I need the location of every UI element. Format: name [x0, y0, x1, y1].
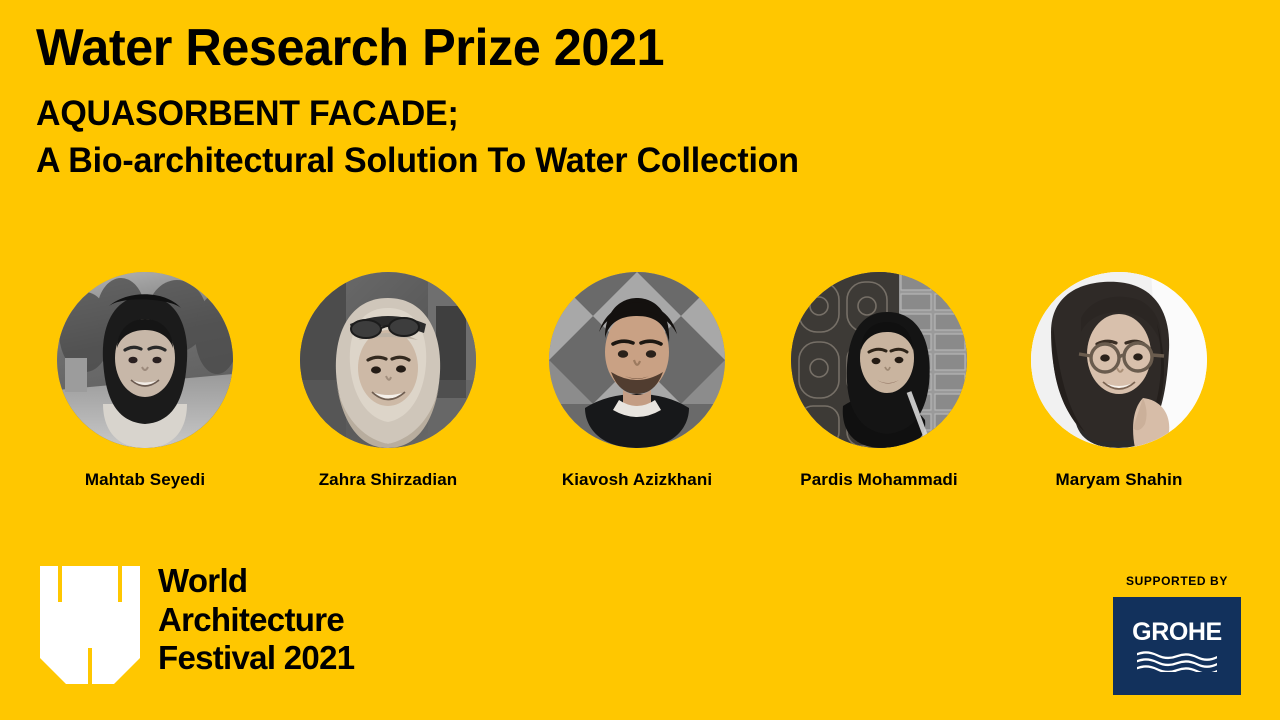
- world-architecture-festival-logo: World Architecture Festival 2021: [40, 566, 354, 684]
- supporter-block: SUPPORTED BY GROHE: [1113, 574, 1241, 695]
- avatar: [549, 272, 725, 448]
- subtitle-line-1: AQUASORBENT FACADE;: [36, 90, 1200, 137]
- team-member-4: Pardis Mohammadi: [779, 272, 979, 490]
- presentation-slide: Water Research Prize 2021 AQUASORBENT FA…: [0, 0, 1280, 720]
- portrait-photo-zahra-shirzadian: [300, 272, 476, 448]
- portrait-photo-mahtab-seyedi: [57, 272, 233, 448]
- avatar: [57, 272, 233, 448]
- project-subtitle: AQUASORBENT FACADE; A Bio-architectural …: [36, 90, 1236, 185]
- team-member-name: Zahra Shirzadian: [288, 470, 488, 490]
- heading-block: Water Research Prize 2021 AQUASORBENT FA…: [36, 20, 1236, 185]
- team-member-5: Maryam Shahin: [1019, 272, 1219, 490]
- team-member-name: Pardis Mohammadi: [779, 470, 979, 490]
- grohe-logo: GROHE: [1113, 597, 1241, 695]
- team-member-3: Kiavosh Azizkhani: [537, 272, 737, 490]
- portrait-photo-maryam-shahin: [1031, 272, 1207, 448]
- avatar: [300, 272, 476, 448]
- grohe-waves-icon: [1135, 648, 1219, 672]
- waf-shield-mark-icon: [40, 566, 140, 684]
- team-member-name: Mahtab Seyedi: [45, 470, 245, 490]
- grohe-wordmark: GROHE: [1132, 620, 1222, 645]
- team-member-1: Mahtab Seyedi: [45, 272, 245, 490]
- waf-line-2: Architecture: [158, 601, 354, 640]
- team-member-name: Maryam Shahin: [1019, 470, 1219, 490]
- waf-wordmark: World Architecture Festival 2021: [158, 562, 354, 678]
- waf-line-3: Festival 2021: [158, 639, 354, 678]
- subtitle-line-2: A Bio-architectural Solution To Water Co…: [36, 137, 1200, 184]
- portrait-photo-pardis-mohammadi: [791, 272, 967, 448]
- team-members-row: Mahtab Seyedi: [0, 272, 1280, 502]
- avatar: [1031, 272, 1207, 448]
- page-title: Water Research Prize 2021: [36, 20, 1200, 76]
- waf-line-1: World: [158, 562, 354, 601]
- avatar: [791, 272, 967, 448]
- portrait-photo-kiavosh-azizkhani: [549, 272, 725, 448]
- team-member-name: Kiavosh Azizkhani: [537, 470, 737, 490]
- team-member-2: Zahra Shirzadian: [288, 272, 488, 490]
- supported-by-label: SUPPORTED BY: [1113, 574, 1241, 588]
